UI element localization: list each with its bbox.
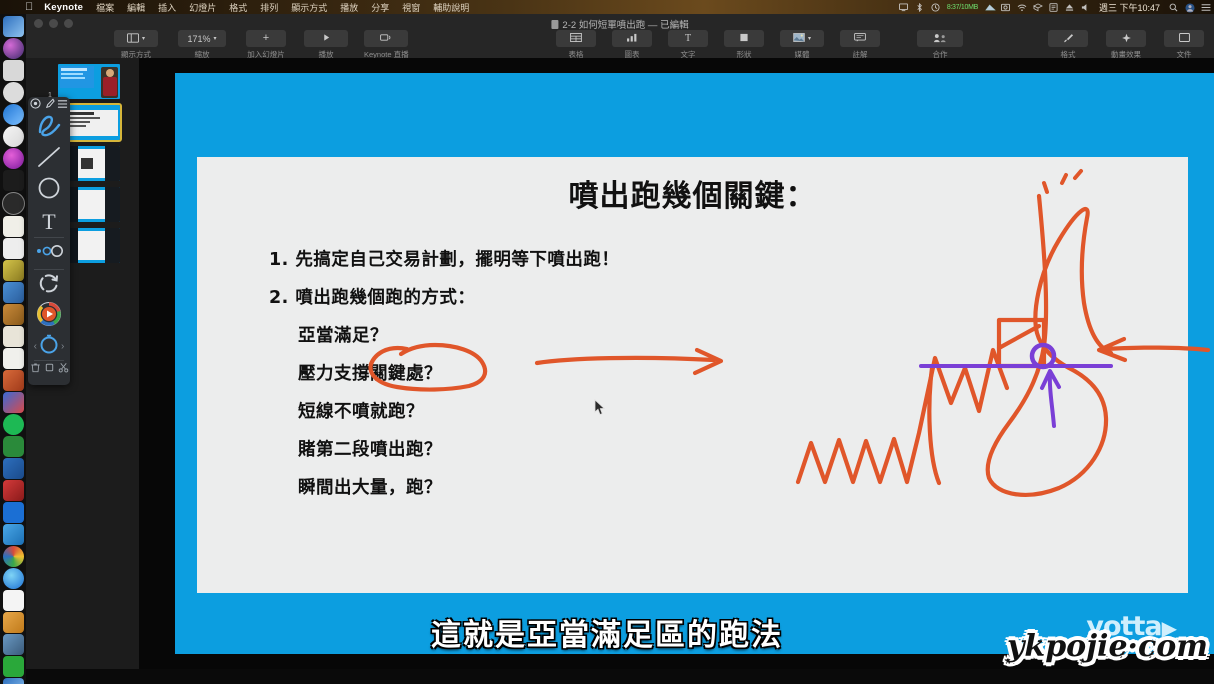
play-button[interactable]: 播放 (304, 30, 348, 60)
collaborate-button[interactable]: 合作 (917, 30, 963, 60)
undo-rotate-tool[interactable] (28, 270, 70, 301)
color-wheel-icon (36, 301, 62, 332)
dots-sizes-icon (34, 244, 64, 263)
volume-icon[interactable] (1081, 3, 1090, 12)
screen:  Keynote 檔案 編輯 插入 幻燈片 格式 排列 顯示方式 播放 分享 … (0, 0, 1214, 684)
annotation-toolbar[interactable]: T ‹ (28, 97, 70, 385)
keynote-window: 2-2 如何短單噴出跑 — 已編輯 ▾ 顯示方式 171% ▾ (26, 14, 1214, 669)
document-title-area: 2-2 如何短單噴出跑 — 已編輯 (551, 17, 688, 31)
display-icon[interactable] (899, 3, 908, 12)
text-t-icon: T (42, 211, 55, 233)
user-account-icon[interactable] (1185, 3, 1194, 12)
comment-icon (854, 33, 866, 44)
site-watermark: ykpojie·com (1007, 629, 1208, 664)
slide-canvas[interactable]: 噴出跑幾個關鍵： 1. 先搞定自己交易計劃，擺明等下噴出跑！ 2. 噴出跑幾個跑… (139, 58, 1214, 669)
dock-icon-line[interactable] (3, 436, 24, 457)
menu-item-help[interactable]: 輔助說明 (433, 1, 469, 14)
highlight-ring-tool[interactable]: ‹ › (28, 332, 70, 360)
media-photo-icon (793, 33, 805, 44)
dock-icon-podcasts[interactable] (3, 148, 24, 169)
zoom-button[interactable] (64, 19, 73, 28)
dock-icon-appletv[interactable] (3, 170, 24, 191)
menu-item-file[interactable]: 檔案 (96, 1, 114, 14)
dock-icon-calendar[interactable] (3, 590, 24, 611)
dock-icon-safari-tech[interactable] (2, 192, 25, 215)
menu-app-name[interactable]: Keynote (44, 2, 83, 13)
dock-icon-office[interactable] (3, 480, 24, 501)
dock-icon-screenshot-app[interactable] (3, 634, 24, 655)
comment-button[interactable]: 註解 (840, 30, 880, 60)
live-broadcast-icon (379, 33, 393, 44)
timer-icon[interactable] (931, 3, 940, 12)
menu-item-edit[interactable]: 編輯 (127, 1, 145, 14)
menu-hamburger-icon[interactable] (57, 96, 68, 114)
dock-icon-keynote[interactable] (3, 216, 24, 237)
chevron-down-icon: ▾ (142, 35, 145, 42)
menu-item-arrange[interactable]: 排列 (260, 1, 278, 14)
dock-icon-folder[interactable] (3, 612, 24, 633)
chart-button[interactable]: 圖表 (612, 30, 652, 60)
toolbar-insert-group: 表格 圖表 T 文字 (556, 30, 880, 60)
chevron-left-icon[interactable]: ‹ (34, 341, 37, 352)
pen-nib-icon[interactable] (44, 96, 55, 114)
current-slide[interactable]: 噴出跑幾個關鍵： 1. 先搞定自己交易計劃，擺明等下噴出跑！ 2. 噴出跑幾個跑… (175, 73, 1214, 654)
menu-item-format[interactable]: 格式 (229, 1, 247, 14)
dock-icon-launchpad[interactable] (3, 82, 24, 103)
animate-diamond-icon (1121, 33, 1132, 45)
dock-icon-xcode[interactable] (3, 282, 24, 303)
text-t-icon: T (685, 33, 691, 44)
dock-icon-appstore[interactable] (3, 104, 24, 125)
view-button[interactable]: ▾ 顯示方式 (114, 30, 158, 60)
traffic-light-buttons (34, 19, 73, 28)
plus-icon: + (263, 33, 269, 44)
toolbar-collaborate-group: 合作 (917, 30, 963, 60)
menu-item-share[interactable]: 分享 (371, 1, 389, 14)
menu-item-view[interactable]: 顯示方式 (291, 1, 327, 14)
toolbar-play-group: 播放 Keynote 直播 (304, 30, 409, 60)
macos-dock[interactable] (0, 14, 26, 684)
dots-tool[interactable] (28, 238, 70, 269)
color-picker-tool[interactable] (28, 301, 70, 332)
dock-icon-notes[interactable] (3, 326, 24, 347)
apple-logo-icon[interactable]:  (25, 2, 33, 13)
scribble-pen-icon (35, 113, 63, 144)
bar-chart-icon (626, 33, 638, 44)
dropbox-icon[interactable] (1033, 3, 1042, 12)
play-triangle-icon (322, 33, 331, 44)
battery-graph-icon[interactable] (985, 3, 994, 12)
battery-status-text: 8:37/10MB (947, 4, 978, 11)
ellipse-tool[interactable] (28, 175, 70, 206)
text-tool[interactable]: T (28, 206, 70, 237)
dock-icon-recorder[interactable] (3, 656, 24, 677)
search-icon[interactable] (1169, 3, 1178, 12)
dock-icon-music[interactable] (3, 126, 24, 147)
toolbar-left-group: ▾ 顯示方式 171% ▾ 縮放 + 加入幻燈片 (114, 30, 286, 60)
document-title[interactable]: 2-2 如何短單噴出跑 — 已編輯 (562, 17, 688, 31)
keynote-document-icon (551, 20, 558, 29)
close-button[interactable] (34, 19, 43, 28)
slide-bullet-list: 1. 先搞定自己交易計劃，擺明等下噴出跑！ 2. 噴出跑幾個跑的方式： 亞當滿足… (269, 246, 789, 512)
freehand-pen-tool[interactable] (28, 113, 70, 144)
text-button[interactable]: T 文字 (668, 30, 708, 60)
chevron-down-icon: ▾ (214, 35, 217, 42)
scissors-icon[interactable] (58, 360, 69, 378)
screenshot-icon[interactable] (1001, 3, 1010, 12)
annotation-toolbar-footer (28, 361, 70, 377)
dock-icon-preview[interactable] (3, 60, 24, 81)
menubar-clock[interactable]: 週三 下午10:47 (1099, 1, 1160, 14)
menubar-status-area: 8:37/10MB 週三 下午10:47 (899, 0, 1210, 14)
macos-menubar:  Keynote 檔案 編輯 插入 幻燈片 格式 排列 顯示方式 播放 分享 … (0, 0, 1214, 14)
dock-icon-wechat[interactable] (3, 414, 24, 435)
trash-icon[interactable] (30, 360, 41, 378)
paintbrush-icon (1063, 33, 1074, 45)
zoom-button[interactable]: 171% ▾ 縮放 (178, 30, 226, 60)
dock-icon-remote-desktop[interactable] (3, 524, 24, 545)
window-titlebar: 2-2 如何短單噴出跑 — 已編輯 ▾ 顯示方式 171% ▾ (26, 14, 1214, 59)
slide-title: 噴出跑幾個關鍵： (197, 171, 1188, 215)
dock-icon-finder-2[interactable] (3, 678, 24, 684)
dock-icon-reminders[interactable] (3, 348, 24, 369)
chevron-down-icon: ▾ (808, 35, 811, 42)
wifi-icon[interactable] (1017, 3, 1026, 12)
media-button[interactable]: ▾ 媒體 (780, 30, 824, 60)
bullet-item-4: 壓力支撐關鍵處？ (298, 360, 789, 385)
circle-outline-icon (36, 176, 62, 205)
dock-icon-windows[interactable] (3, 502, 24, 523)
duplicate-icon[interactable] (44, 360, 55, 378)
toolbar-right-group: 格式 動畫效果 文件 (1048, 30, 1204, 60)
animate-button[interactable]: 動畫效果 (1106, 30, 1146, 60)
bullet-item-3: 亞當滿足？ (298, 322, 789, 347)
document-button[interactable]: 文件 (1164, 30, 1204, 60)
shape-button[interactable]: 形狀 (724, 30, 764, 60)
keynote-live-button[interactable]: Keynote 直播 (364, 30, 409, 60)
zoom-value: 171% (187, 34, 210, 44)
bluetooth-icon[interactable] (915, 3, 924, 12)
ring-arrows-icon (38, 333, 60, 360)
diagonal-line-icon (36, 145, 62, 174)
slide-navigator-item-1[interactable]: 1 (46, 64, 126, 99)
chevron-right-icon[interactable]: › (61, 341, 64, 352)
slide-content-panel: 噴出跑幾個關鍵： 1. 先搞定自己交易計劃，擺明等下噴出跑！ 2. 噴出跑幾個跑… (197, 157, 1188, 593)
bullet-item-6: 賭第二段噴出跑？ (298, 436, 789, 461)
document-panel-icon (1179, 33, 1190, 44)
dock-icon-siri[interactable] (3, 38, 24, 59)
view-panels-icon (127, 33, 139, 45)
dock-icon-utility[interactable] (3, 304, 24, 325)
add-slide-button[interactable]: + 加入幻燈片 (246, 30, 286, 60)
table-icon (570, 33, 582, 44)
notes-icon[interactable] (1049, 3, 1058, 12)
refresh-circular-icon (37, 271, 61, 300)
dock-icon-telegram[interactable] (3, 458, 24, 479)
shape-square-icon (739, 33, 749, 44)
format-button[interactable]: 格式 (1048, 30, 1088, 60)
slide-thumbnail-1[interactable] (58, 64, 120, 99)
line-tool[interactable] (28, 144, 70, 175)
dock-icon-numbers[interactable] (3, 260, 24, 281)
annotation-toolbar-header (29, 97, 69, 113)
eject-icon[interactable] (1065, 3, 1074, 12)
table-button[interactable]: 表格 (556, 30, 596, 60)
dock-icon-chrome[interactable] (3, 546, 24, 567)
collaborate-person-icon (933, 33, 947, 45)
record-icon[interactable] (30, 96, 41, 114)
bullet-item-2: 2. 噴出跑幾個跑的方式： (269, 284, 789, 309)
bullet-item-7: 瞬間出大量，跑？ (298, 474, 789, 499)
minimize-button[interactable] (49, 19, 58, 28)
bullet-item-1: 1. 先搞定自己交易計劃，擺明等下噴出跑！ (269, 246, 789, 271)
dock-icon-pages[interactable] (3, 238, 24, 259)
menu-item-slide[interactable]: 幻燈片 (189, 1, 216, 14)
menu-item-play[interactable]: 播放 (340, 1, 358, 14)
menu-item-insert[interactable]: 插入 (158, 1, 176, 14)
bullet-item-5: 短線不噴就跑？ (298, 398, 789, 423)
control-center-icon[interactable] (1201, 3, 1210, 12)
menu-item-window[interactable]: 視窗 (402, 1, 420, 14)
mouse-cursor (594, 399, 606, 416)
dock-icon-finder[interactable] (3, 16, 24, 37)
dock-icon-charts[interactable] (3, 392, 24, 413)
dock-icon-editor[interactable] (3, 370, 24, 391)
dock-icon-safari[interactable] (3, 568, 24, 589)
